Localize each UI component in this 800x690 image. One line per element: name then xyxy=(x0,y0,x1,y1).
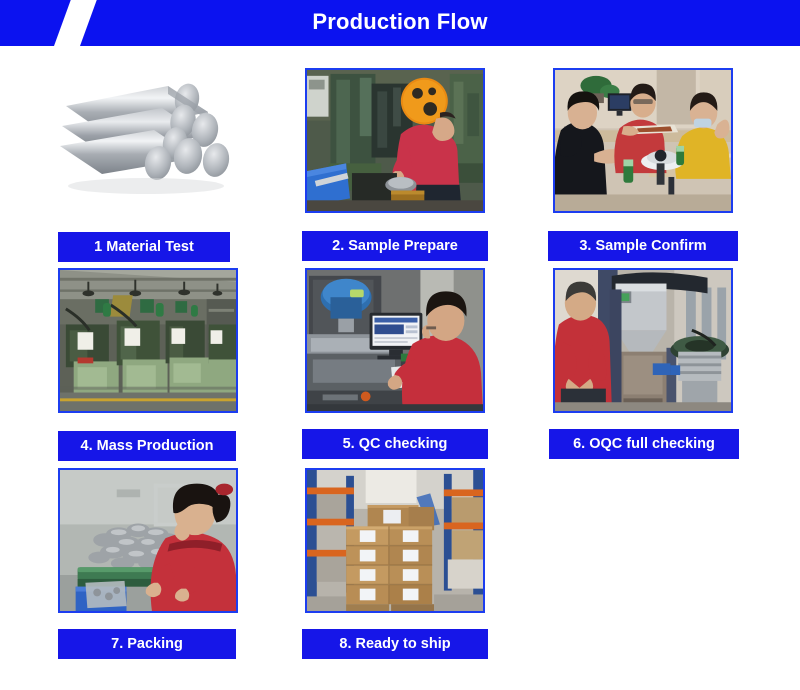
step-caption-8: 8. Ready to ship xyxy=(302,629,488,659)
photo-material-test xyxy=(58,68,238,213)
step-caption-4: 4. Mass Production xyxy=(58,431,236,461)
step-card-6[interactable]: 6. OQC full checking xyxy=(553,268,743,413)
step-caption-6: 6. OQC full checking xyxy=(549,429,739,459)
photo-sample-prepare xyxy=(305,68,485,213)
page-title: Production Flow xyxy=(0,0,800,46)
photo-qc-checking xyxy=(305,268,485,413)
step-caption-3: 3. Sample Confirm xyxy=(548,231,738,261)
photo-sample-confirm xyxy=(553,68,733,213)
step-card-5[interactable]: 5. QC checking xyxy=(305,268,495,413)
step-card-4[interactable]: 4. Mass Production xyxy=(58,268,248,413)
step-caption-1: 1 Material Test xyxy=(58,232,230,262)
page-header: Production Flow xyxy=(0,0,800,46)
photo-ready-to-ship xyxy=(305,468,485,613)
step-card-3[interactable]: 3. Sample Confirm xyxy=(553,68,743,213)
photo-mass-production xyxy=(58,268,238,413)
production-flow-grid: 1 Material Test xyxy=(0,46,800,690)
photo-oqc-full-checking xyxy=(553,268,733,413)
step-caption-2: 2. Sample Prepare xyxy=(302,231,488,261)
step-card-7[interactable]: 7. Packing xyxy=(58,468,248,613)
photo-packing xyxy=(58,468,238,613)
step-caption-5: 5. QC checking xyxy=(302,429,488,459)
step-caption-7: 7. Packing xyxy=(58,629,236,659)
step-card-1[interactable]: 1 Material Test xyxy=(58,68,248,213)
step-card-2[interactable]: 2. Sample Prepare xyxy=(305,68,495,213)
step-card-8[interactable]: 8. Ready to ship xyxy=(305,468,495,613)
